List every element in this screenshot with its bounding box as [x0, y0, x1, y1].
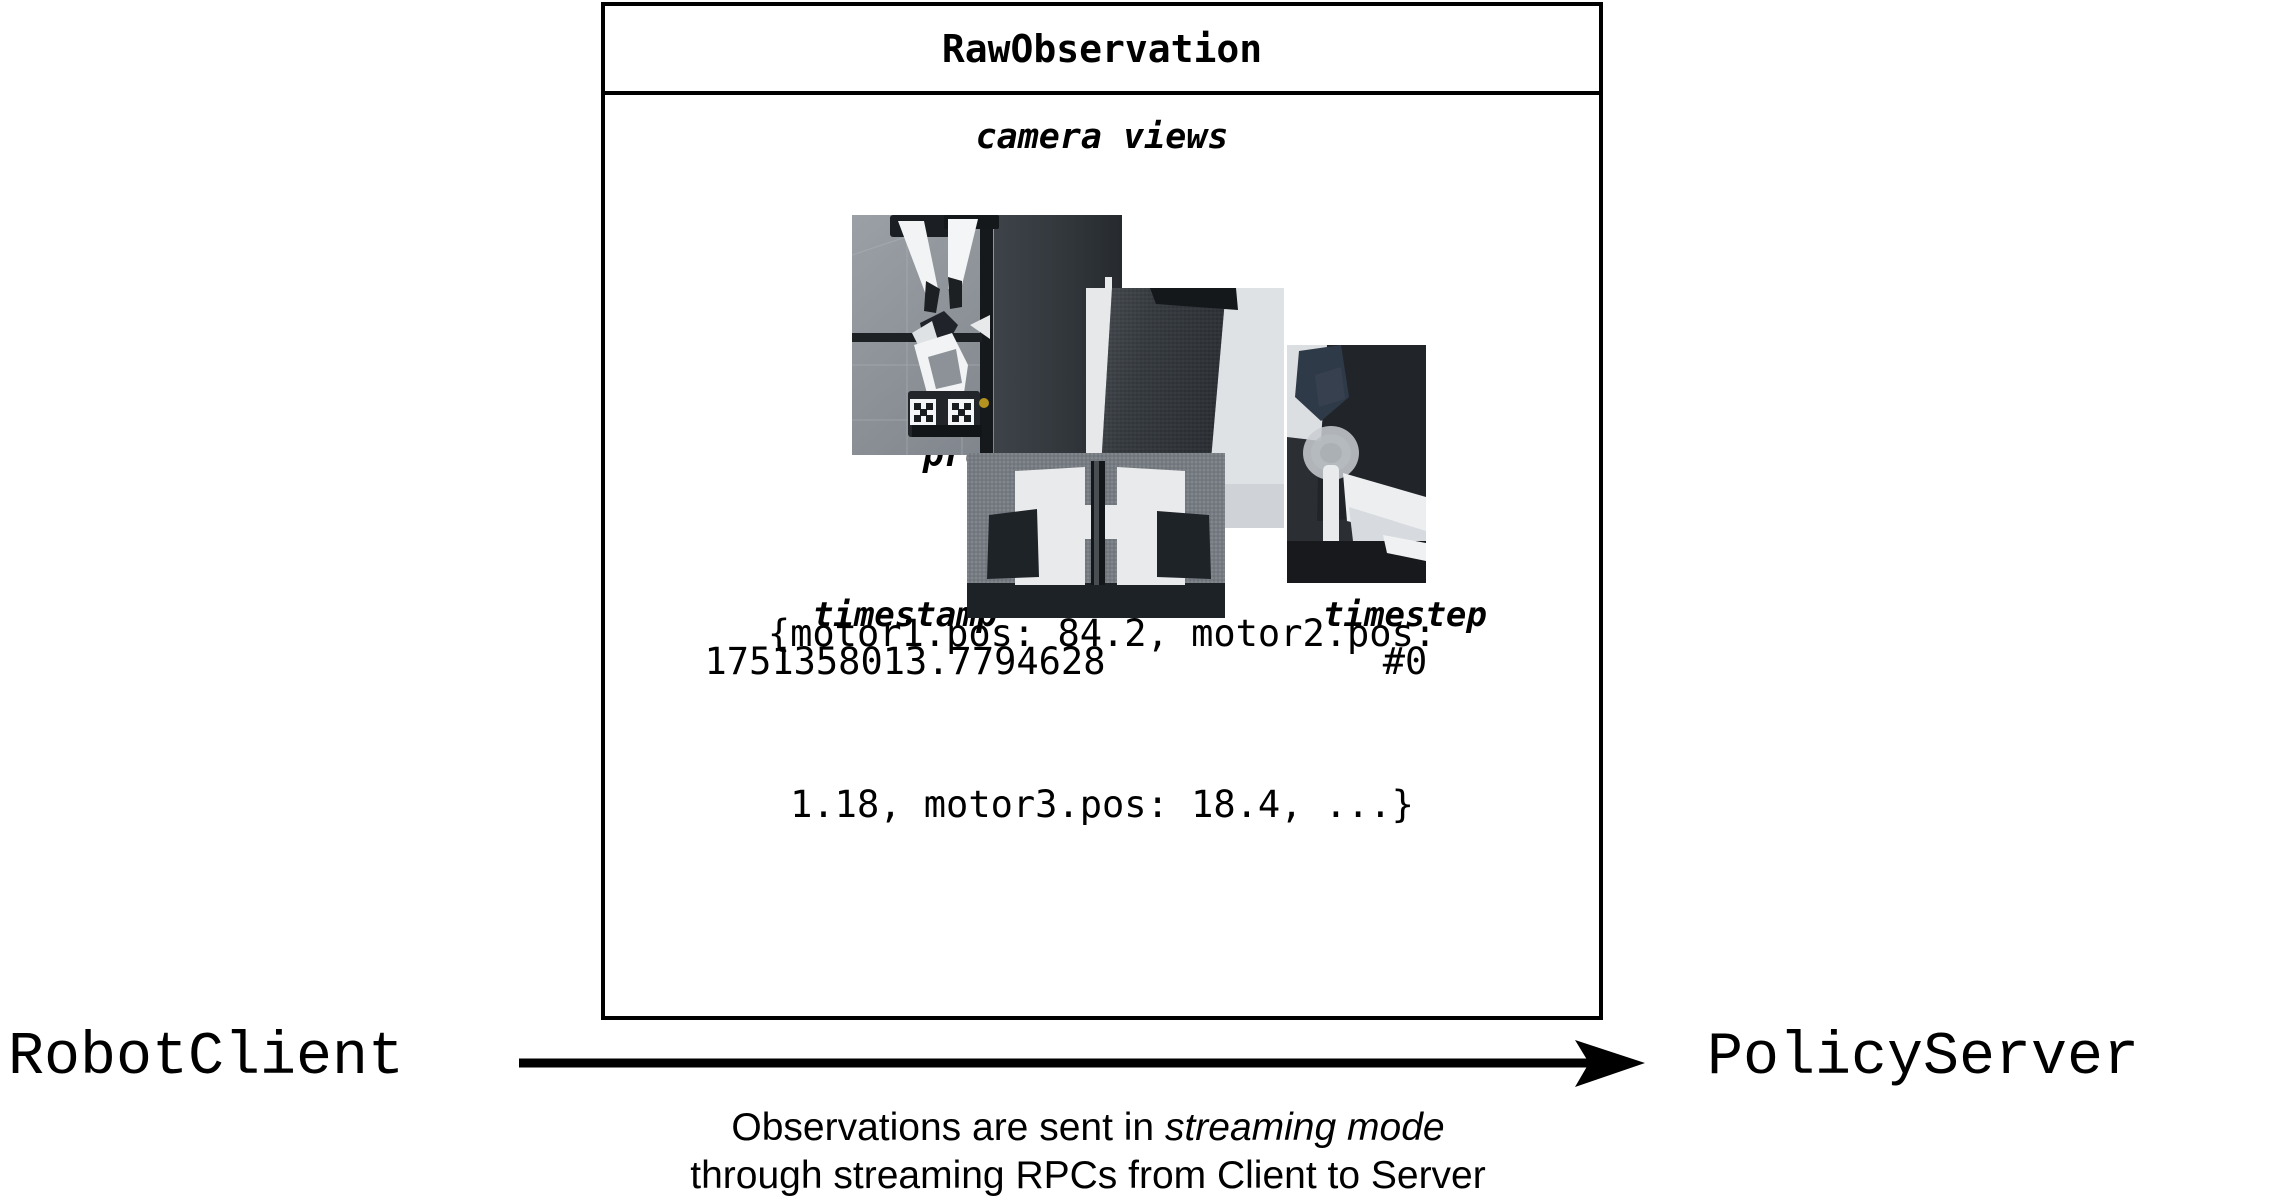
caption-line-1-emphasis: streaming mode: [1165, 1106, 1445, 1149]
flow-arrow: [515, 1030, 1655, 1096]
timestep-label: timestep: [1205, 595, 1605, 635]
policy-server-label: PolicyServer: [1707, 1024, 2139, 1092]
raw-observation-title: RawObservation: [942, 27, 1262, 71]
timestamp-value: 1751358013.7794628: [605, 640, 1205, 683]
camera-view-overhead-gripper: [852, 215, 1122, 455]
caption-line-2: through streaming RPCs from Client to Se…: [428, 1152, 1748, 1200]
camera-view-workspace-bin: [1287, 345, 1426, 583]
raw-observation-body: camera views: [605, 95, 1599, 1020]
camera-view-wrist-close-up: [967, 453, 1225, 618]
caption-line-1-prefix: Observations are sent in: [731, 1106, 1165, 1149]
raw-observation-header: RawObservation: [605, 6, 1599, 95]
timestep-value: #0: [1205, 640, 1605, 683]
raw-observation-box: RawObservation camera views: [601, 2, 1603, 1020]
flow-caption: Observations are sent in streaming mode …: [428, 1104, 1748, 1200]
caption-line-1: Observations are sent in streaming mode: [428, 1104, 1748, 1152]
robot-client-label: RobotClient: [8, 1024, 404, 1092]
proprioperception-line-2: 1.18, motor3.pos: 18.4, ...}: [605, 776, 1599, 833]
